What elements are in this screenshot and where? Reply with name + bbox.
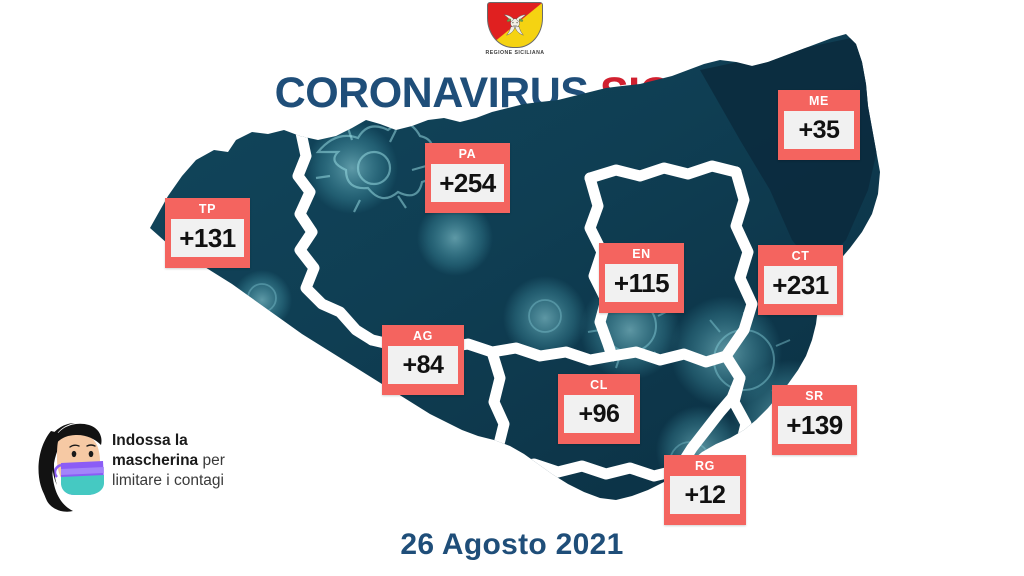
mask-notice-line1: Indossa la <box>112 432 188 449</box>
province-code-sr: SR <box>773 386 856 406</box>
province-box-tp[interactable]: TP +131 <box>165 198 250 268</box>
province-code-tp: TP <box>166 199 249 219</box>
province-box-sr[interactable]: SR +139 <box>772 385 857 455</box>
province-code-pa: PA <box>426 144 509 164</box>
province-code-en: EN <box>600 244 683 264</box>
province-box-rg[interactable]: RG +12 <box>664 455 746 525</box>
province-value-rg: +12 <box>670 476 740 514</box>
mask-notice-line3: limitare i contagi <box>112 472 224 489</box>
province-value-en: +115 <box>605 264 678 302</box>
province-value-cl: +96 <box>564 395 634 433</box>
woman-with-mask-icon <box>31 409 113 513</box>
province-code-ct: CT <box>759 246 842 266</box>
mask-notice-line2-rest: per <box>198 452 225 469</box>
province-box-ag[interactable]: AG +84 <box>382 325 464 395</box>
mask-illustration <box>31 409 113 513</box>
province-box-ct[interactable]: CT +231 <box>758 245 843 315</box>
mask-notice-line2-bold: mascherina <box>112 452 198 469</box>
province-code-cl: CL <box>559 375 639 395</box>
mask-notice-text: Indossa la mascherina per limitare i con… <box>112 431 332 491</box>
infographic-canvas: REGIONE SICILIANA CORONAVIRUS SICILIA <box>0 0 1024 576</box>
province-value-tp: +131 <box>171 219 244 257</box>
province-value-sr: +139 <box>778 406 851 444</box>
province-box-cl[interactable]: CL +96 <box>558 374 640 444</box>
province-box-en[interactable]: EN +115 <box>599 243 684 313</box>
province-box-me[interactable]: ME +35 <box>778 90 860 160</box>
province-value-ct: +231 <box>764 266 837 304</box>
province-code-rg: RG <box>665 456 745 476</box>
province-value-me: +35 <box>784 111 854 149</box>
date-label: 26 Agosto 2021 <box>0 528 1024 562</box>
province-box-pa[interactable]: PA +254 <box>425 143 510 213</box>
province-value-pa: +254 <box>431 164 504 202</box>
province-code-ag: AG <box>383 326 463 346</box>
province-code-me: ME <box>779 91 859 111</box>
province-value-ag: +84 <box>388 346 458 384</box>
